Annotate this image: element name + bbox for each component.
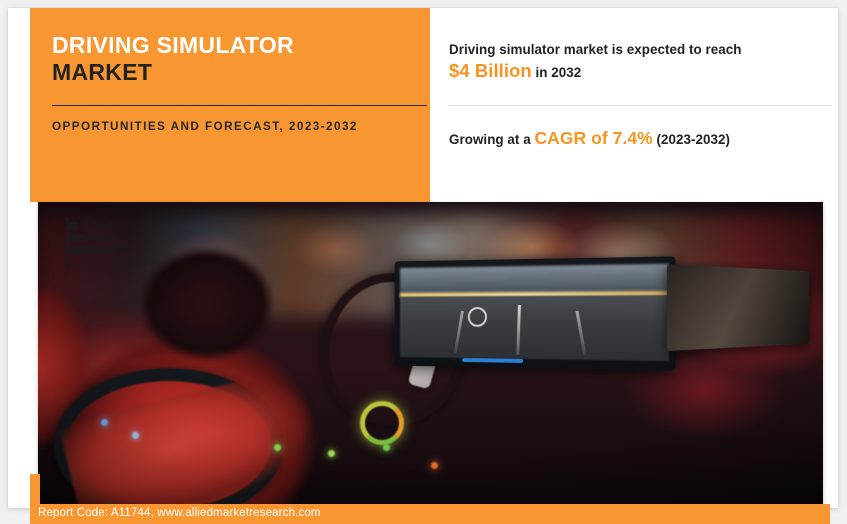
logo-text: Allied Market Research [66, 220, 144, 256]
hero-image-content: Allied Market Research [38, 202, 823, 504]
stats-divider [449, 105, 831, 106]
header-block: DRIVING SIMULATOR MARKET OPPORTUNITIES A… [30, 8, 430, 202]
logo-line-2: Market [82, 232, 144, 244]
header-subtitle: OPPORTUNITIES AND FORECAST, 2023-2032 [52, 118, 412, 135]
logo-line-1: Allied [82, 220, 144, 232]
market-size-suffix: in 2032 [536, 65, 582, 80]
cagr-value: CAGR of 7.4% [534, 128, 652, 148]
cagr-statement: Growing at a CAGR of 7.4% (2023-2032) [449, 128, 831, 149]
cagr-period: (2023-2032) [657, 132, 731, 147]
stats-panel: Driving simulator market is expected to … [449, 8, 831, 202]
logo-line-1-text: Allied [82, 220, 112, 232]
title-line-2: MARKET [52, 59, 412, 86]
logo-bar-3 [66, 246, 94, 254]
logo-bar-2 [66, 234, 86, 242]
market-size-statement: Driving simulator market is expected to … [449, 40, 831, 83]
logo-speech-tail [66, 262, 74, 271]
logo-bar-1 [66, 222, 78, 230]
cagr-prefix: Growing at a [449, 132, 531, 147]
screenshot-root: DRIVING SIMULATOR MARKET OPPORTUNITIES A… [0, 0, 847, 516]
allied-market-research-logo: Allied Market Research [66, 220, 144, 256]
market-size-prefix: Driving simulator market is expected to … [449, 42, 741, 57]
logo-line-3: Research [82, 244, 144, 256]
footer-caption: Report Code: A11744, www.alliedmarketres… [38, 507, 321, 519]
hero-image: Allied Market Research [38, 202, 823, 504]
title-line-1: DRIVING SIMULATOR [52, 32, 412, 59]
header-divider [52, 105, 427, 106]
market-size-value: $4 Billion [449, 60, 532, 81]
logo-line-2-text: Market [82, 232, 117, 244]
page-title: DRIVING SIMULATOR MARKET [52, 32, 412, 85]
report-card: DRIVING SIMULATOR MARKET OPPORTUNITIES A… [8, 8, 838, 508]
image-vignette [38, 202, 823, 504]
